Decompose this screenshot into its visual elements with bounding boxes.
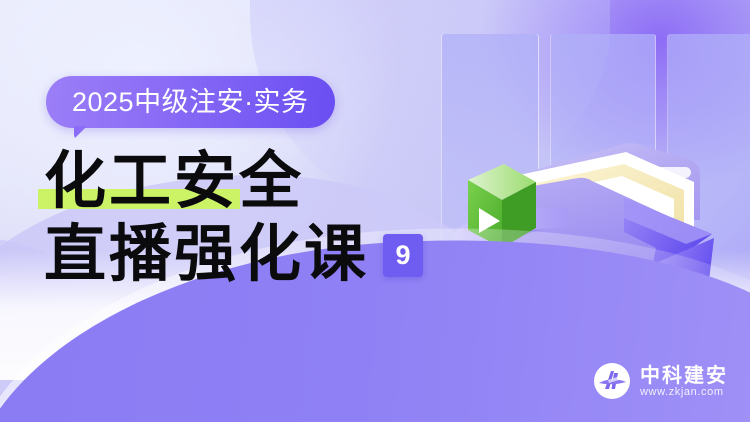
zkjan-circle-mark-icon xyxy=(593,362,631,400)
folder-illustration xyxy=(418,32,750,362)
course-banner: 2025中级注安·实务 化工安全 直播强化课 9 中科建安 www.zkjan xyxy=(0,0,750,422)
brand-logo-text: 中科建安 www.zkjan.com xyxy=(640,365,728,398)
headline-line-1-row: 化工安全 xyxy=(44,148,423,213)
brand-logo: 中科建安 www.zkjan.com xyxy=(593,362,728,400)
pill-tail-icon xyxy=(74,126,94,139)
course-tag-badge: 2025中级注安·实务 xyxy=(46,76,335,128)
episode-number-badge: 9 xyxy=(383,234,423,277)
course-tag-label: 2025中级注安·实务 xyxy=(72,89,309,116)
headline-block: 化工安全 直播强化课 9 xyxy=(44,148,423,286)
headline-line-2: 直播强化课 xyxy=(44,221,369,286)
headline-line-2-row: 直播强化课 9 xyxy=(44,221,423,286)
brand-name: 中科建安 xyxy=(640,365,728,385)
course-tag-pill: 2025中级注安·实务 xyxy=(46,76,335,128)
headline-line-1: 化工安全 xyxy=(44,148,304,213)
brand-url: www.zkjan.com xyxy=(640,387,728,398)
